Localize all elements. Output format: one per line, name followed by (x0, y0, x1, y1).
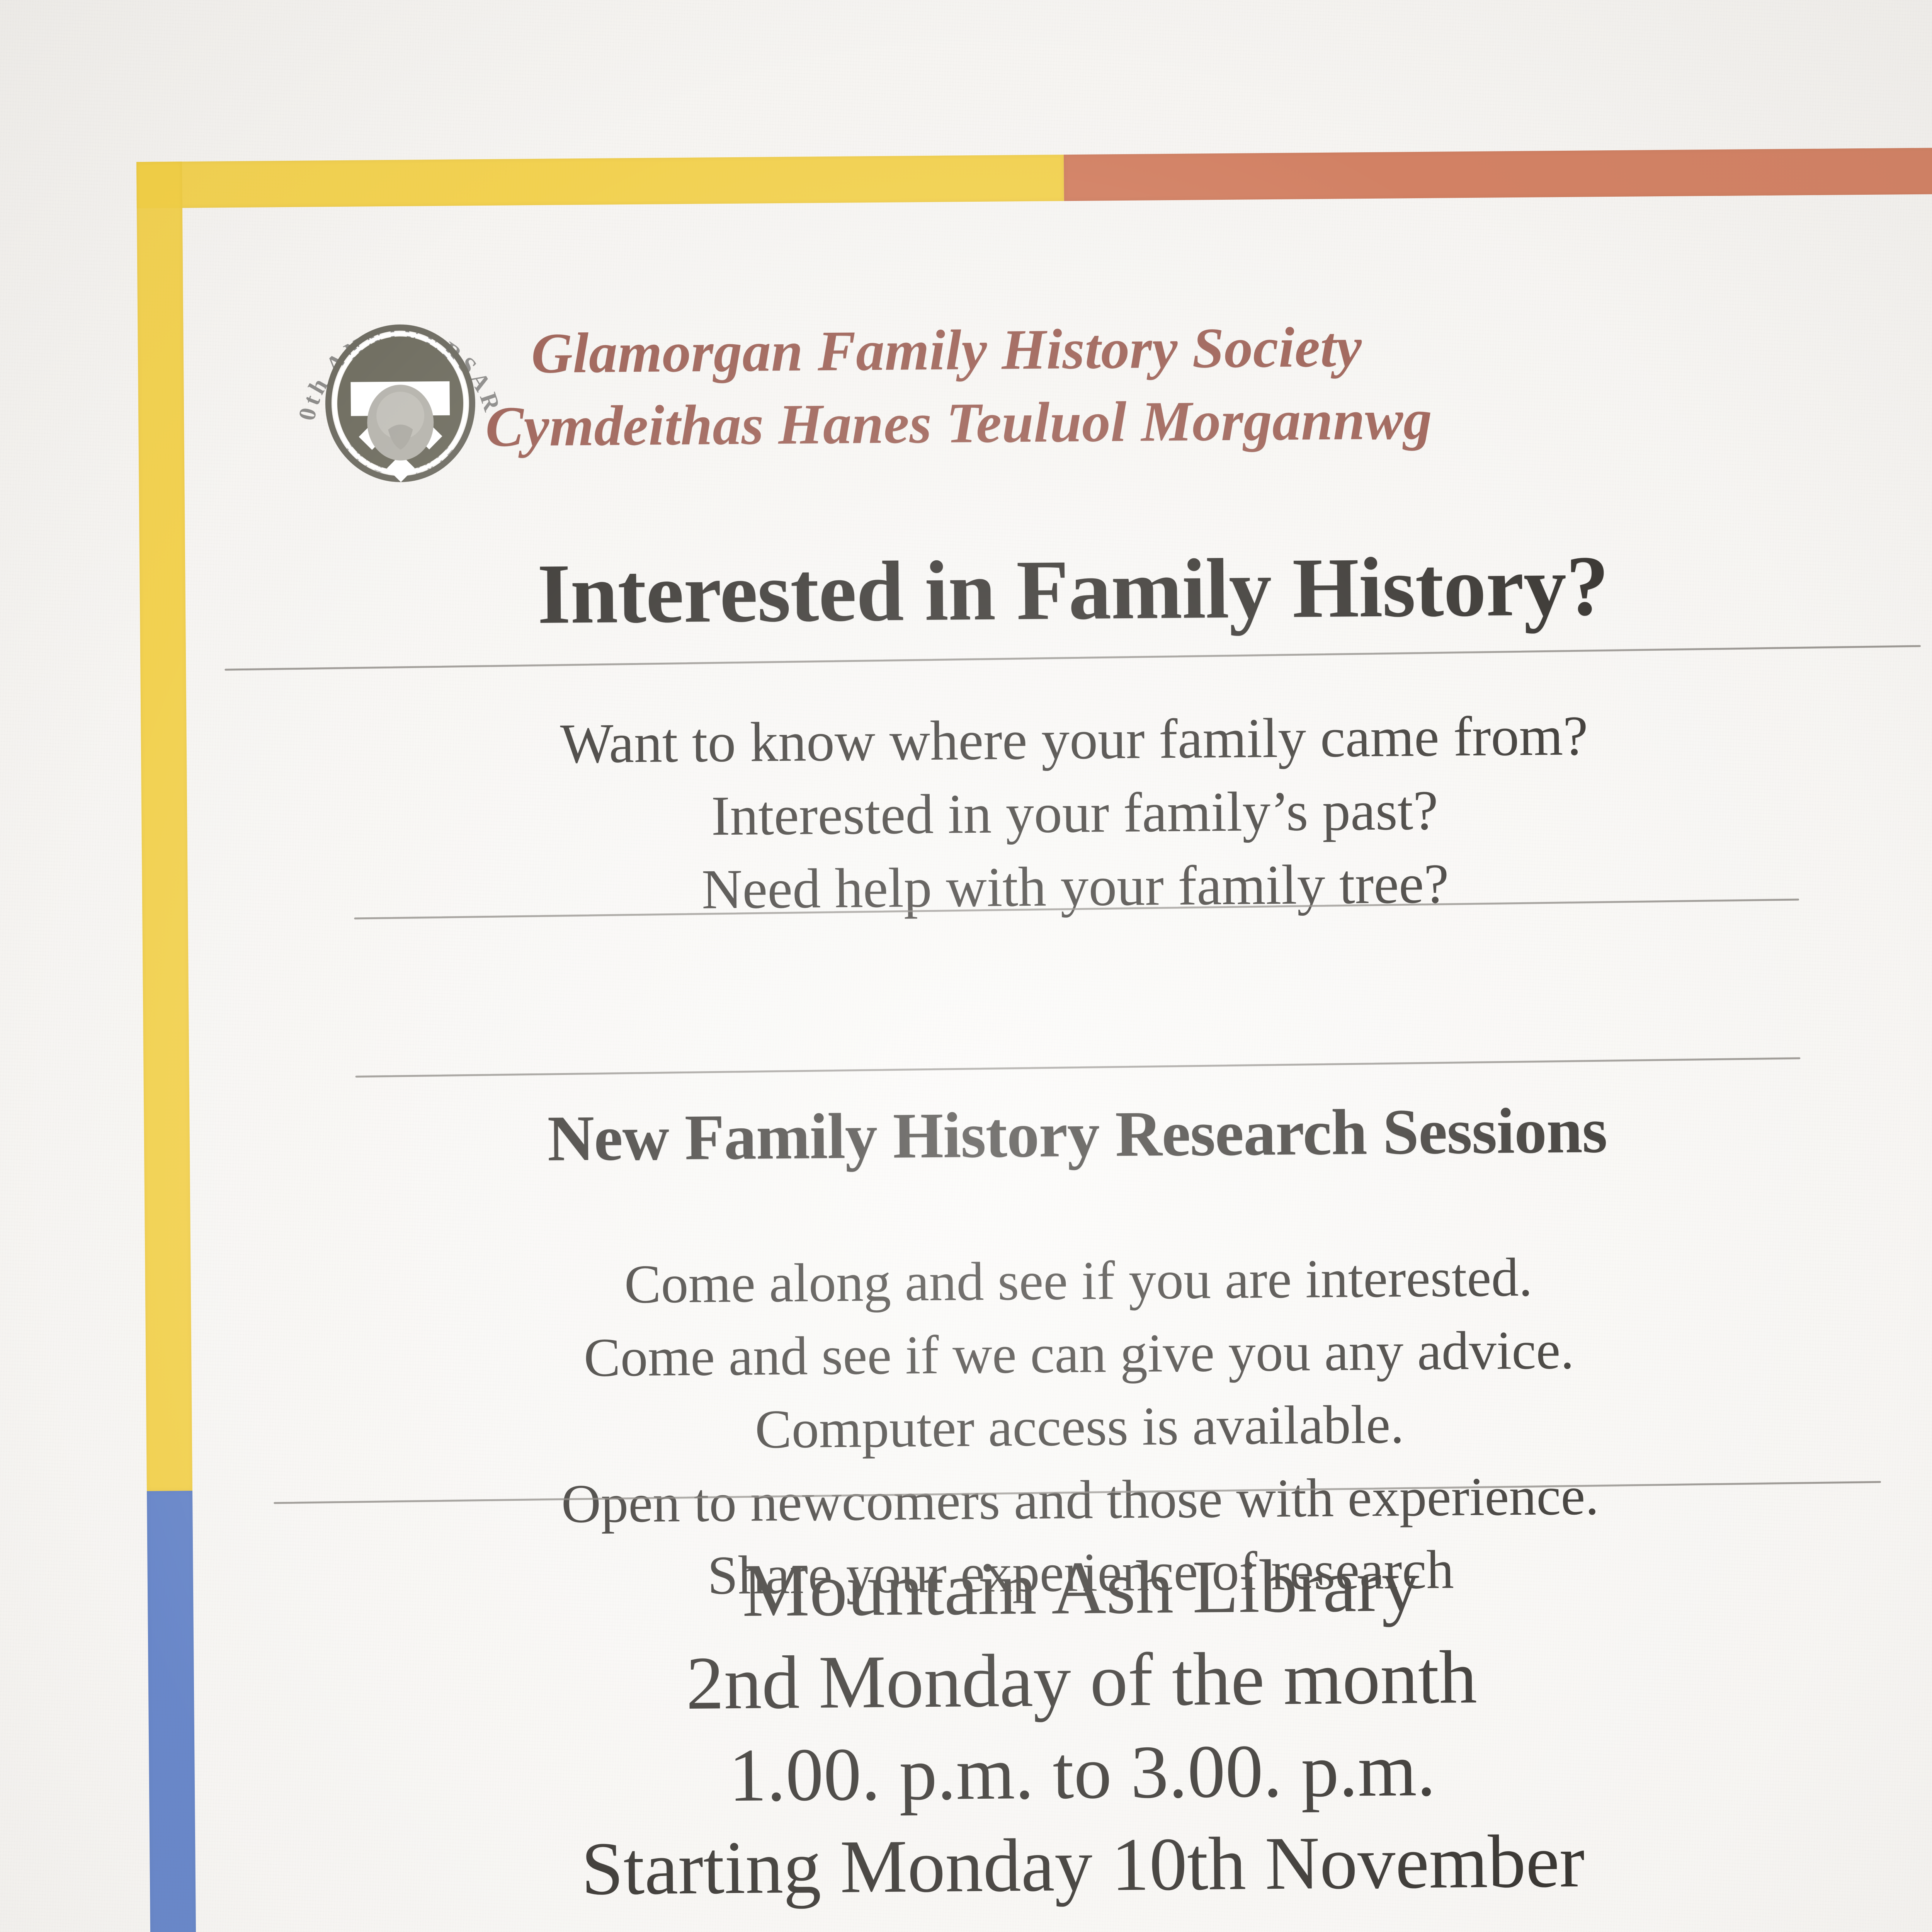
photo-vignette (0, 0, 1932, 1932)
poster-photograph: 40th ANNIVERSARY 1974 - 2014 (0, 0, 1932, 1932)
